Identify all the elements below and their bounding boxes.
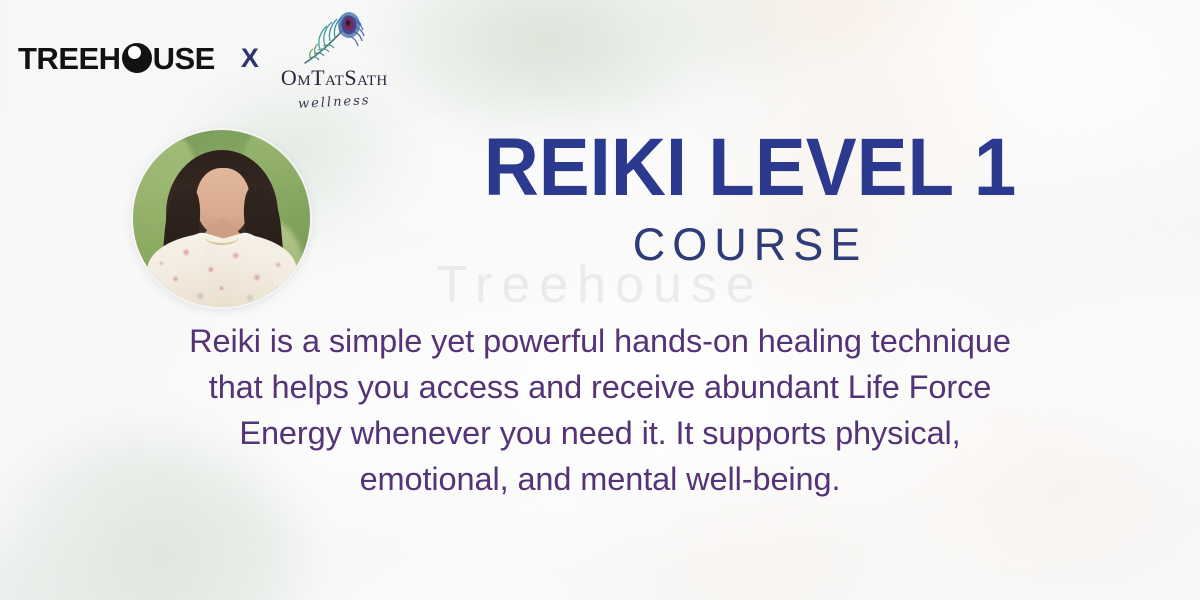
crescent-circle-o-icon xyxy=(122,43,152,73)
treehouse-logo-text-mid: EEH xyxy=(58,43,120,74)
peacock-feather-icon xyxy=(297,8,371,66)
logo-bar: TREEHUSE X xyxy=(18,8,388,108)
description-line: emotional, and mental well-being. xyxy=(88,456,1112,502)
instructor-portrait-avatar xyxy=(133,130,310,307)
treehouse-logo-text-end: USE xyxy=(153,43,215,74)
page-subtitle: COURSE xyxy=(320,222,1180,267)
omtatsath-logo[interactable]: OmTatSath wellness xyxy=(281,6,388,110)
headline-block: REIKI LEVEL 1 COURSE xyxy=(320,128,1180,267)
brand-separator-x: X xyxy=(241,45,259,72)
description-text: Reiki is a simple yet powerful hands-on … xyxy=(88,318,1112,502)
omtatsath-tagline: wellness xyxy=(298,93,371,112)
poster-canvas: Treehouse TREEHUSE X xyxy=(0,0,1200,600)
omtatsath-name: OmTatSath xyxy=(281,67,388,89)
treehouse-logo[interactable]: TREEHUSE xyxy=(18,43,215,74)
treehouse-logo-text-start: TR xyxy=(18,43,58,74)
description-line: that helps you access and receive abunda… xyxy=(88,364,1112,410)
description-line: Reiki is a simple yet powerful hands-on … xyxy=(88,318,1112,364)
portrait-necklace xyxy=(205,229,239,245)
page-title: REIKI LEVEL 1 xyxy=(350,128,1150,208)
description-line: Energy whenever you need it. It supports… xyxy=(88,410,1112,456)
poster-content: TREEHUSE X xyxy=(0,0,1200,600)
